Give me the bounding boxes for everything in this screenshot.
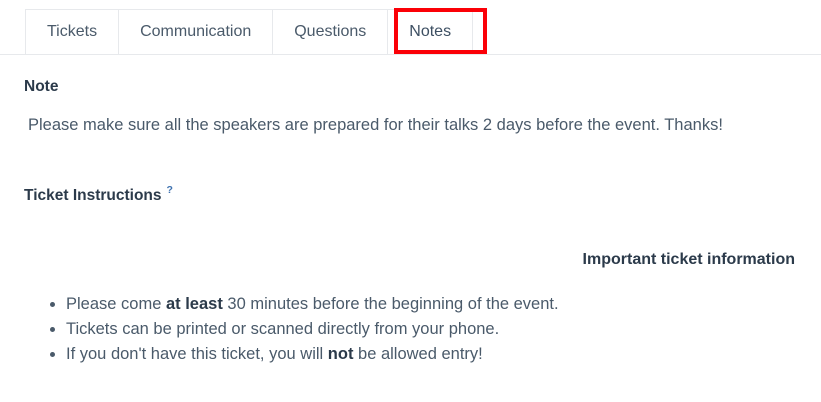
list-item-text: be allowed entry! <box>353 345 482 363</box>
note-section-title: Note <box>24 78 58 96</box>
important-ticket-information-heading: Important ticket information <box>583 251 795 269</box>
tab-tickets[interactable]: Tickets <box>25 9 119 54</box>
tab-list: TicketsCommunicationQuestionsNotes <box>25 9 472 54</box>
tab-communication[interactable]: Communication <box>118 9 273 54</box>
tab-bar: TicketsCommunicationQuestionsNotes <box>0 0 821 55</box>
ticket-instructions-label: Ticket Instructions <box>24 187 162 205</box>
list-item-text: Please come <box>66 295 166 313</box>
list-item-text: 30 minutes before the beginning of the e… <box>223 295 559 313</box>
emphasis-text: at least <box>166 295 223 313</box>
tab-questions[interactable]: Questions <box>272 9 388 54</box>
note-body-text: Please make sure all the speakers are pr… <box>28 116 723 135</box>
list-item: If you don't have this ticket, you will … <box>66 342 559 367</box>
emphasis-text: not <box>328 345 354 363</box>
ticket-instructions-title-row: Ticket Instructions ? <box>24 187 173 205</box>
ticket-instructions-list: Please come at least 30 minutes before t… <box>26 292 559 367</box>
help-icon[interactable]: ? <box>167 184 173 196</box>
tab-notes[interactable]: Notes <box>387 9 473 54</box>
list-item-text: If you don't have this ticket, you will <box>66 345 328 363</box>
list-item: Please come at least 30 minutes before t… <box>66 292 559 317</box>
list-item-text: Tickets can be printed or scanned direct… <box>66 320 499 338</box>
list-item: Tickets can be printed or scanned direct… <box>66 317 559 342</box>
